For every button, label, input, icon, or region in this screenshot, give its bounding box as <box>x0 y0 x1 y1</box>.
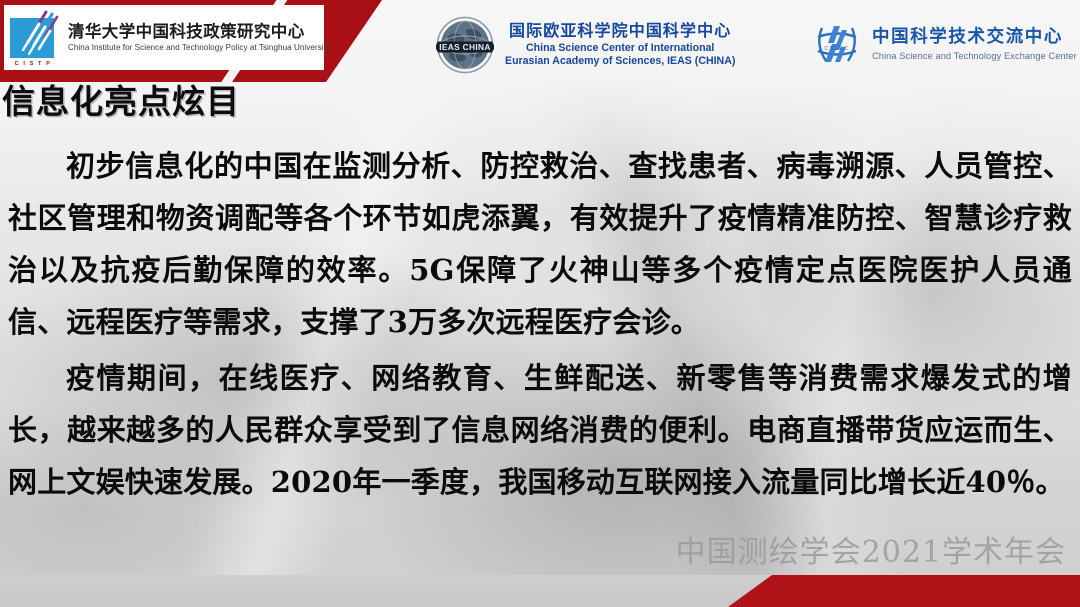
cstec-mark-icon: CSTEC <box>812 20 862 68</box>
cstec-title-en: China Science and Technology Exchange Ce… <box>872 51 1077 61</box>
cistp-logo: C I S T P 清华大学中国科技政策研究中心 China Institute… <box>4 5 324 70</box>
cstec-logo: CSTEC 中国科学技术交流中心 China Science and Techn… <box>812 20 1077 68</box>
ieas-logo: IEAS CHINA 国际欧亚科学院中国科学中心 China Science C… <box>436 16 735 74</box>
body-paragraph-2: 疫情期间，在线医疗、网络教育、生鲜配送、新零售等消费需求爆发式的增长，越来越多的… <box>8 352 1072 508</box>
cistp-title-en: China Institute for Science and Technolo… <box>68 43 330 52</box>
cstec-title-cn: 中国科学技术交流中心 <box>872 27 1077 47</box>
ieas-title-cn: 国际欧亚科学院中国科学中心 <box>509 21 731 40</box>
page-title: 信息化亮点炫目 <box>2 84 240 121</box>
slide-canvas: C I S T P 清华大学中国科技政策研究中心 China Institute… <box>0 0 1080 607</box>
footer-red-bar <box>728 575 1080 607</box>
cistp-mark-icon: C I S T P <box>8 10 62 66</box>
slide-header: C I S T P 清华大学中国科技政策研究中心 China Institute… <box>0 0 1080 82</box>
body-paragraph-1: 初步信息化的中国在监测分析、防控救治、查找患者、病毒溯源、人员管控、社区管理和物… <box>8 140 1072 348</box>
ieas-title-en-line2: Eurasian Academy of Sciences, IEAS (CHIN… <box>505 55 735 69</box>
ieas-globe-icon: IEAS CHINA <box>436 16 494 74</box>
slide-body: 初步信息化的中国在监测分析、防控救治、查找患者、病毒溯源、人员管控、社区管理和物… <box>8 140 1072 508</box>
footer-watermark: 中国测绘学会2021学术年会 <box>676 527 1066 571</box>
cistp-mark-label: C I S T P <box>10 61 56 67</box>
svg-text:IEAS CHINA: IEAS CHINA <box>439 42 490 52</box>
cistp-swoosh-icon <box>8 10 62 66</box>
ieas-title-en-line1: China Science Center of International <box>526 42 714 56</box>
svg-text:CSTEC: CSTEC <box>825 46 850 52</box>
cistp-title-cn: 清华大学中国科技政策研究中心 <box>68 23 330 42</box>
